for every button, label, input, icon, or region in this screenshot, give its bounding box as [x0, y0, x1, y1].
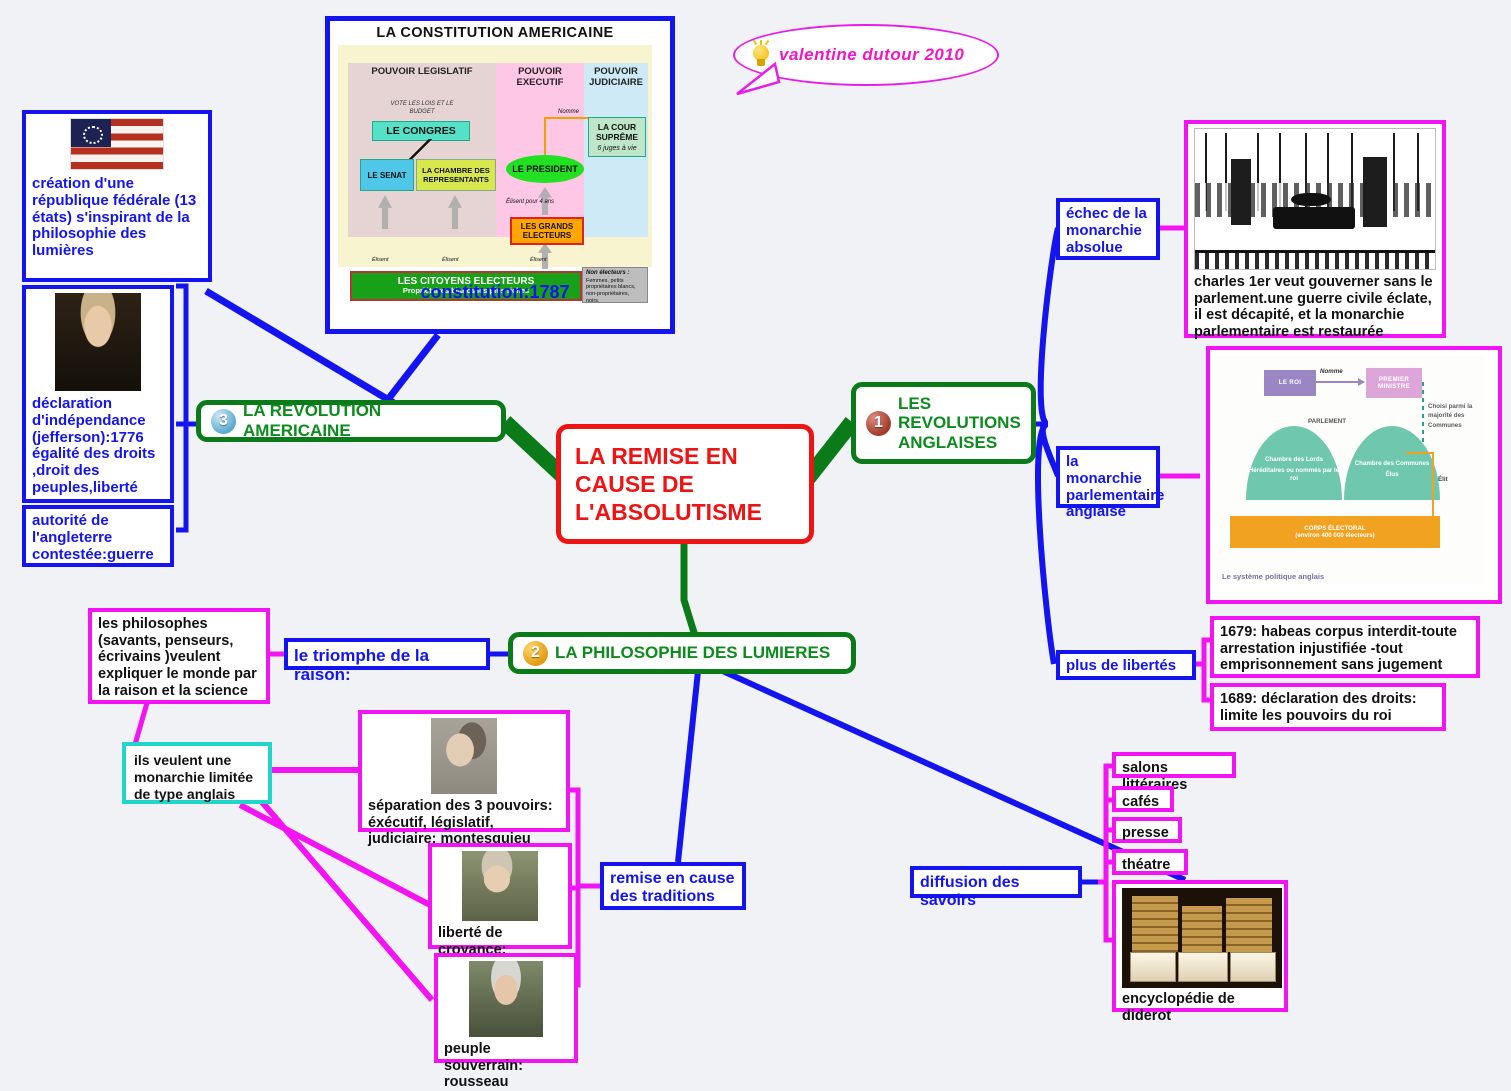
rousseau-portrait-image	[469, 961, 543, 1037]
cour-label: LA COUR SUPRÊME	[589, 122, 645, 142]
encyclopedie-text: encyclopédie de diderot	[1122, 991, 1278, 1024]
lords-note: Héréditaires ou nommés par le roi	[1246, 467, 1342, 481]
cour-note: 6 juges à vie	[597, 145, 636, 152]
triomphe-raison-text: le triomphe de la raison:	[294, 646, 429, 684]
corps-label: CORPS ÉLECTORAL	[1304, 525, 1365, 532]
philosophers-text: les philosophes (savants, penseurs, écri…	[98, 616, 257, 699]
system-premier-ministre: PREMIER MINISTRE	[1366, 368, 1422, 398]
habeas-corpus-text: 1679: habeas corpus interdit-toute arres…	[1220, 624, 1457, 673]
encyclopedie-box[interactable]: encyclopédie de diderot	[1112, 880, 1288, 1012]
us-flag-13-stars-icon	[70, 118, 164, 170]
english-failure-text: échec de la monarchie absolue	[1066, 205, 1147, 256]
diffusion-item-salons[interactable]: salons littéraires	[1112, 752, 1236, 778]
philosophers-box[interactable]: les philosophes (savants, penseurs, écri…	[88, 608, 270, 704]
branch-number-1-badge: 1	[866, 411, 891, 436]
system-chambre-communes: Chambre des Communes Élus	[1344, 426, 1440, 500]
english-political-system-diagram: LE ROI Nomme PREMIER MINISTRE Choisi par…	[1216, 356, 1484, 584]
diffusion-item-cafes[interactable]: cafés	[1112, 786, 1174, 812]
constitution-vote-note: VOTE LES LOIS ET LE BUDGET	[384, 101, 460, 117]
american-declaration-text: déclaration d'indépendance (jefferson):1…	[32, 396, 164, 497]
diffusion-item-presse[interactable]: presse	[1112, 817, 1182, 843]
rousseau-text: peuple souverrain: rousseau	[444, 1041, 568, 1091]
american-republic-text: création d'une république fédérale (13 é…	[32, 176, 202, 260]
mindmap-canvas: valentine dutour 2010 LA REMISE EN CAUSE…	[0, 0, 1511, 1085]
montesquieu-portrait-image	[431, 718, 497, 794]
system-chambre-lords: Chambre des Lords Héréditaires ou nommés…	[1246, 426, 1342, 500]
signature-text: valentine dutour 2010	[779, 45, 964, 65]
constitution-elisent-4ans: Élisent pour 4 ans	[506, 199, 554, 205]
montesquieu-text: séparation des 3 pouvoirs: éxécutif, lég…	[368, 798, 560, 848]
constitution-cour-supreme: LA COUR SUPRÊME 6 juges à vie	[588, 117, 646, 157]
diffusion-savoirs-box[interactable]: diffusion des savoirs	[910, 866, 1082, 898]
constitution-congres: LE CONGRES	[372, 121, 470, 141]
constitution-elisent-1: Élisent	[372, 257, 389, 263]
communes-label: Chambre des Communes	[1355, 460, 1430, 467]
corps-note: (environ 400 000 électeurs)	[1295, 532, 1374, 539]
bill-of-rights-box[interactable]: 1689: déclaration des droits: limite les…	[1210, 683, 1446, 731]
english-monarchy-text: la monarchie parlementaire anglaise	[1066, 453, 1164, 520]
theatre-text: théatre	[1122, 857, 1170, 873]
limited-monarchy-text: ils veulent une monarchie limitée de typ…	[134, 752, 253, 802]
english-liberties-box[interactable]: plus de libertés	[1056, 650, 1196, 680]
charles-i-execution-image	[1194, 128, 1436, 270]
branch-lumieres[interactable]: 2 LA PHILOSOPHIE DES LUMIERES	[508, 632, 856, 674]
branch-number-3-badge: 3	[211, 409, 236, 434]
us-constitution-diagram: LA CONSTITUTION AMERICAINE POUVOIR LEGIS…	[330, 21, 660, 311]
english-liberties-text: plus de libertés	[1066, 657, 1176, 674]
us-constitution-figure[interactable]: LA CONSTITUTION AMERICAINE POUVOIR LEGIS…	[325, 16, 675, 334]
encyclopedie-books-image	[1122, 888, 1282, 988]
limited-monarchy-box[interactable]: ils veulent une monarchie limitée de typ…	[122, 742, 272, 804]
american-authority-text: autorité de l'angleterre contestée:guerr…	[32, 512, 154, 563]
branch-number-2-badge: 2	[523, 641, 548, 666]
bubble-tail	[733, 60, 793, 100]
branch-american-label: LA REVOLUTION AMERICAINE	[243, 401, 491, 441]
system-elit-label: Élit	[1438, 476, 1448, 483]
bill-of-rights-text: 1689: déclaration des droits: limite les…	[1220, 691, 1417, 724]
constitution-col-legislatif: POUVOIR LEGISLATIF	[354, 67, 490, 78]
cafes-text: cafés	[1122, 794, 1159, 810]
communes-note: Élus	[1385, 471, 1398, 478]
branch-american-revolution[interactable]: 3 LA REVOLUTION AMERICAINE	[196, 400, 506, 442]
american-authority-box[interactable]: autorité de l'angleterre contestée:guerr…	[22, 505, 174, 567]
american-declaration-box[interactable]: déclaration d'indépendance (jefferson):1…	[22, 285, 174, 503]
constitution-col-executif: POUVOIR EXECUTIF	[498, 67, 582, 89]
presse-text: presse	[1122, 825, 1169, 841]
system-choisi-note: Choisi parmi la majorité des Communes	[1428, 402, 1482, 430]
central-node[interactable]: LA REMISE EN CAUSE DE L'ABSOLUTISME	[556, 424, 814, 544]
system-nomme: Nomme	[1320, 368, 1343, 375]
constitution-grands-electeurs: LES GRANDS ELECTEURS	[510, 217, 584, 245]
diffusion-item-theatre[interactable]: théatre	[1112, 849, 1188, 875]
constitution-year-label: constitution:1787	[330, 282, 660, 303]
constitution-title: LA CONSTITUTION AMERICAINE	[330, 25, 660, 41]
diffusion-savoirs-text: diffusion des savoirs	[920, 874, 1020, 909]
triomphe-raison-box[interactable]: le triomphe de la raison:	[284, 638, 490, 670]
non-electeurs-title: Non électeurs :	[586, 270, 629, 276]
constitution-col-judiciaire: POUVOIR JUDICIAIRE	[584, 67, 648, 89]
lords-label: Chambre des Lords	[1265, 456, 1323, 463]
central-node-title: LA REMISE EN CAUSE DE L'ABSOLUTISME	[575, 442, 795, 526]
branch-english-label: LES REVOLUTIONS ANGLAISES	[898, 394, 1021, 451]
constitution-elisent-2: Élisent	[442, 257, 459, 263]
habeas-corpus-box[interactable]: 1679: habeas corpus interdit-toute arres…	[1210, 616, 1480, 678]
constitution-senat: LE SENAT	[360, 159, 414, 191]
branch-lumieres-label: LA PHILOSOPHIE DES LUMIERES	[555, 643, 830, 663]
branch-english-revolutions[interactable]: 1 LES REVOLUTIONS ANGLAISES	[851, 382, 1036, 464]
traditions-box[interactable]: remise en cause des traditions	[600, 862, 746, 910]
rousseau-box[interactable]: peuple souverrain: rousseau	[434, 953, 578, 1063]
constitution-nomme-label: Nomme	[558, 109, 579, 115]
system-caption: Le système politique anglais	[1222, 573, 1324, 582]
voltaire-box[interactable]: liberté de croyance: voltaire	[428, 843, 572, 949]
jefferson-portrait-image	[55, 293, 141, 391]
system-roi: LE ROI	[1264, 370, 1316, 396]
voltaire-portrait-image	[462, 851, 538, 921]
constitution-president: LE PRESIDENT	[506, 155, 584, 183]
english-system-figure[interactable]: LE ROI Nomme PREMIER MINISTRE Choisi par…	[1206, 346, 1502, 604]
english-failure-box[interactable]: échec de la monarchie absolue	[1056, 198, 1160, 260]
system-parlement-label: PARLEMENT	[1308, 418, 1346, 425]
montesquieu-box[interactable]: séparation des 3 pouvoirs: éxécutif, lég…	[358, 710, 570, 832]
charles-execution-text: charles 1er veut gouverner sans le parle…	[1194, 274, 1436, 341]
system-corps-electoral: CORPS ÉLECTORAL (environ 400 000 électeu…	[1230, 516, 1440, 548]
english-monarchy-box[interactable]: la monarchie parlementaire anglaise	[1056, 446, 1160, 508]
charles-execution-box[interactable]: charles 1er veut gouverner sans le parle…	[1184, 120, 1446, 338]
traditions-text: remise en cause des traditions	[610, 870, 735, 905]
american-republic-box[interactable]: création d'une république fédérale (13 é…	[22, 110, 212, 282]
constitution-chambre: LA CHAMBRE DES REPRESENTANTS	[416, 159, 496, 191]
constitution-elisent-3: Élisent	[530, 257, 547, 263]
